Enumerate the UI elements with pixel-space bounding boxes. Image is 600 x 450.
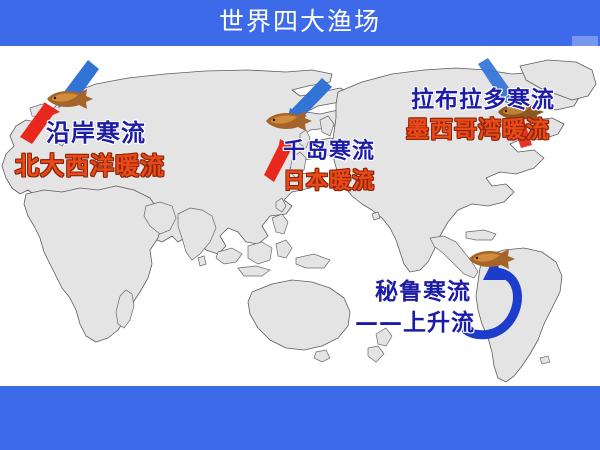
footer-banner bbox=[0, 386, 600, 450]
landmass-caribbean bbox=[466, 230, 496, 240]
label-upwelling: ——上升流 bbox=[355, 303, 475, 337]
title-banner: 世界四大渔场 bbox=[0, 0, 600, 46]
landmass-australia bbox=[248, 280, 350, 350]
landmass-new-guinea bbox=[296, 254, 330, 268]
label-japan-warm-current: 日本暖流 bbox=[283, 163, 375, 195]
landmass-new-zealand-south bbox=[368, 346, 384, 362]
landmass-sulawesi bbox=[276, 240, 292, 258]
label-kuril-cold-current: 千岛寒流 bbox=[283, 133, 375, 165]
label-gulf-stream-warm-current: 墨西哥湾暖流 bbox=[406, 110, 550, 144]
label-labrador-cold-current: 拉布拉多寒流 bbox=[411, 80, 555, 114]
landmass-borneo bbox=[248, 242, 272, 264]
fish-icon-atlantic bbox=[43, 88, 95, 110]
landmass-tasmania bbox=[314, 350, 330, 362]
slide-canvas: 世界四大渔场 bbox=[0, 0, 600, 450]
label-coastal-cold-current: 沿岸寒流 bbox=[46, 113, 146, 148]
landmass-sri-lanka bbox=[198, 256, 206, 266]
page-title: 世界四大渔场 bbox=[0, 0, 600, 46]
landmass-philippines bbox=[272, 214, 288, 234]
label-peru-cold-current: 秘鲁寒流 bbox=[375, 272, 471, 306]
fish-icon-kuroshio bbox=[262, 110, 314, 132]
landmass-africa bbox=[24, 186, 162, 342]
landmass-india bbox=[178, 208, 216, 260]
landmass-java bbox=[238, 266, 270, 276]
banner-artifact bbox=[572, 36, 598, 48]
fish-icon-peru bbox=[465, 248, 517, 270]
landmass-falklands bbox=[540, 356, 550, 364]
label-north-atlantic-warm-current: 北大西洋暖流 bbox=[15, 146, 165, 181]
